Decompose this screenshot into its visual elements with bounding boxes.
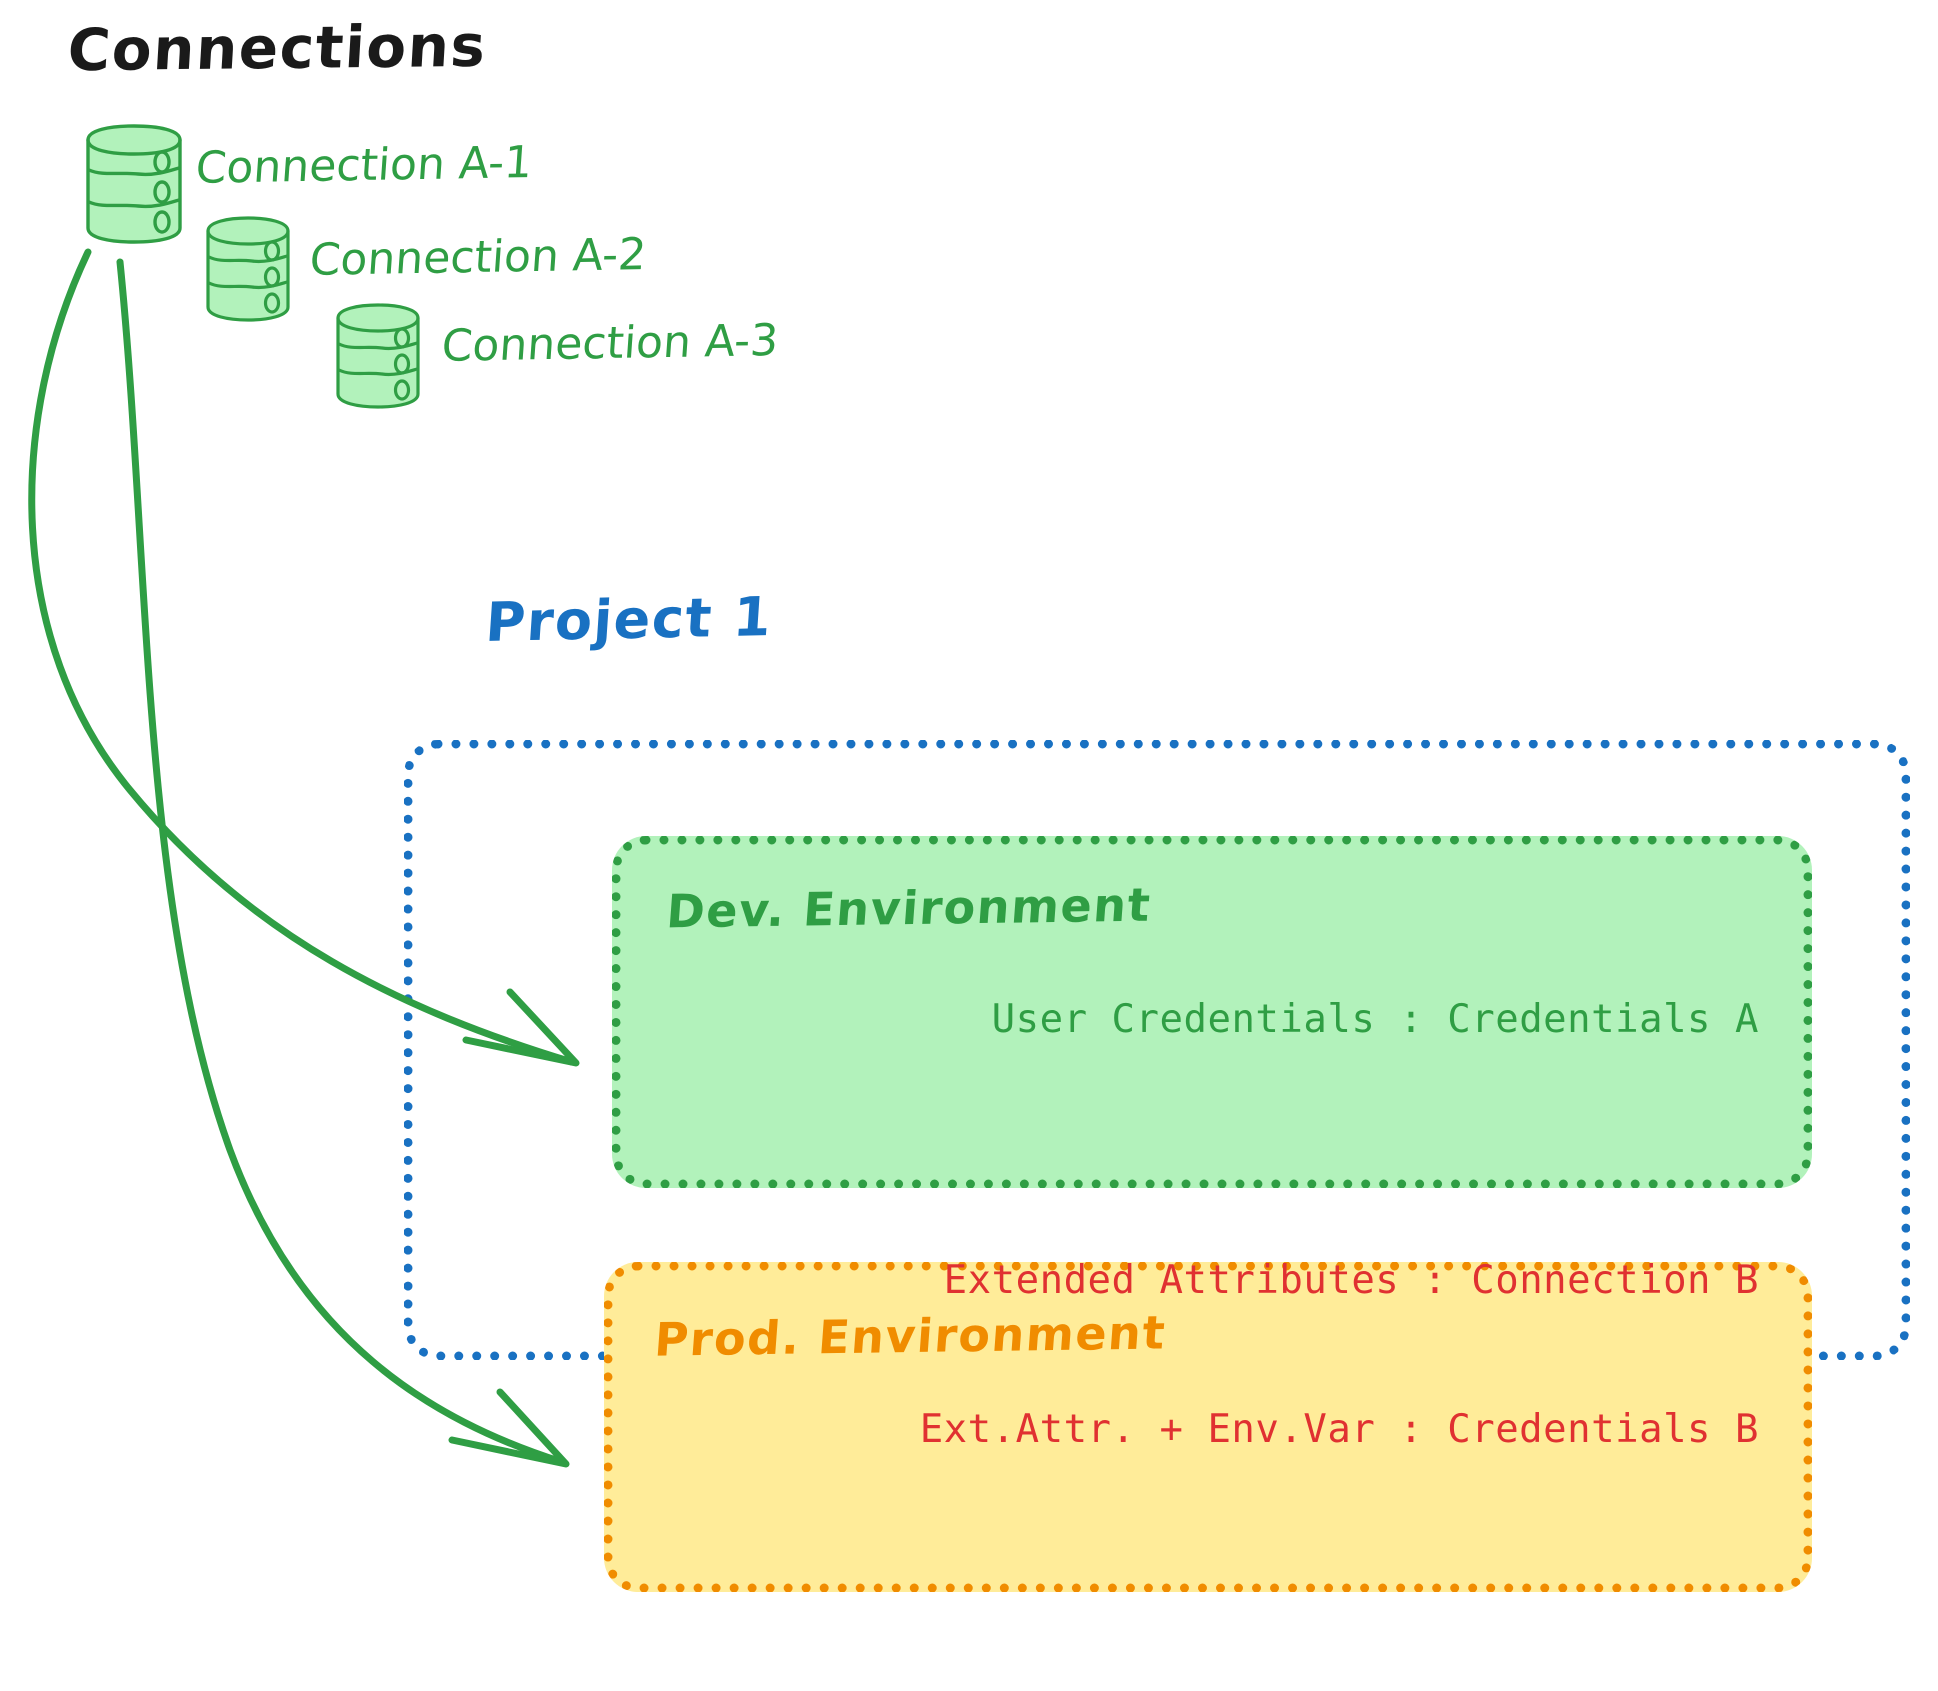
page-title: Connections [66, 12, 489, 84]
project-label: Project 1 [484, 585, 775, 654]
database-cylinder-icon [330, 300, 426, 416]
connection-label-a-2: Connection A-2 [308, 229, 648, 286]
prod-environment-details: Extended Attributes : Connection B Ext.A… [920, 1156, 1759, 1555]
diagram-canvas: Connections Connection A-1 [0, 0, 1938, 1691]
prod-detail-line: Ext.Attr. + Env.Var : Credentials B [920, 1405, 1759, 1455]
dev-environment-details: User Credentials : Credentials A [992, 895, 1759, 1145]
arrow-to-prod-head [452, 1392, 566, 1464]
prod-detail-line: Extended Attributes : Connection B [920, 1256, 1759, 1306]
database-cylinder-icon [78, 120, 190, 252]
prod-environment-box: Prod. Environment Extended Attributes : … [604, 1262, 1812, 1592]
dev-environment-box: Dev. Environment User Credentials : Cred… [612, 836, 1812, 1188]
dev-detail-line: User Credentials : Credentials A [992, 995, 1759, 1045]
database-cylinder-icon [200, 213, 296, 329]
connection-label-a-3: Connection A-3 [440, 315, 780, 372]
connection-label-a-1: Connection A-1 [194, 137, 534, 194]
